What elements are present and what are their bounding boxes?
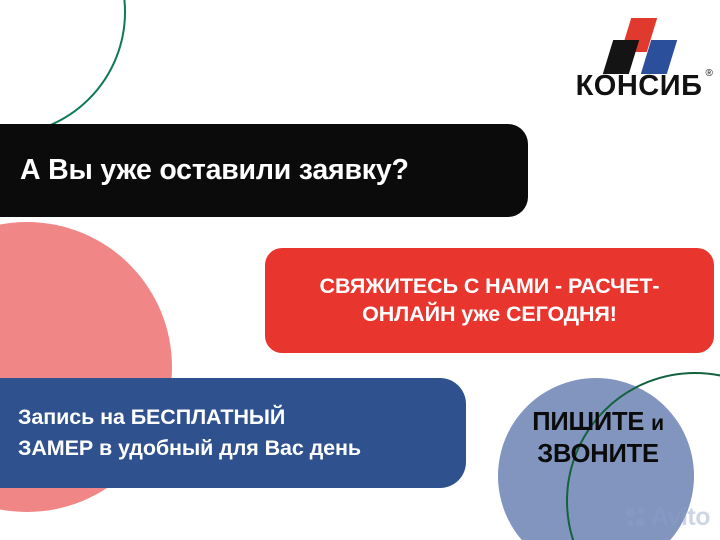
cta-line-2: ЗВОНИТЕ [537,440,659,468]
free-measurement-box: Запись на БЕСПЛАТНЫЙ ЗАМЕР в удобный для… [0,378,466,488]
logo-mark-icon [572,18,706,70]
offer-line-2-online: ОНЛАЙН [362,302,461,326]
offer-text: СВЯЖИТЕСЬ С НАМИ - РАСЧЕТ- ОНЛАЙН уже СЕ… [320,273,660,329]
offer-box: СВЯЖИТЕСЬ С НАМИ - РАСЧЕТ- ОНЛАЙН уже СЕ… [265,248,714,353]
avito-watermark: Avito [626,503,710,532]
measure-line-1: Запись на БЕСПЛАТНЫЙ [18,405,285,429]
headline-box: А Вы уже оставили заявку? [0,124,528,217]
logo-wordmark: КОНСИБ ® [576,72,703,101]
cta-line-1-conjunction: и [651,412,664,435]
offer-line-1: СВЯЖИТЕСЬ С НАМИ - РАСЧЕТ- [320,274,660,298]
avito-wordmark: Avito [651,503,710,532]
logo-parallelogram-black [603,40,639,74]
headline-text: А Вы уже оставили заявку? [20,155,409,186]
green-ring-decoration-top [0,0,126,136]
logo-wordmark-text: КОНСИБ [576,70,703,102]
avito-dots-icon [626,507,648,529]
contact-cta-text: ПИШИТЕ и ЗВОНИТЕ [494,406,702,471]
brand-logo: КОНСИБ ® [572,18,706,101]
offer-line-2-segodnya: СЕГОДНЯ! [506,302,617,326]
cta-line-1-main: ПИШИТЕ [532,408,651,436]
free-measurement-text: Запись на БЕСПЛАТНЫЙ ЗАМЕР в удобный для… [18,402,361,463]
registered-trademark-icon: ® [706,69,714,79]
promo-banner: КОНСИБ ® А Вы уже оставили заявку? СВЯЖИ… [0,0,720,540]
measure-line-2: ЗАМЕР в удобный для Вас день [18,436,361,460]
offer-line-2-uzhe: уже [461,302,506,326]
